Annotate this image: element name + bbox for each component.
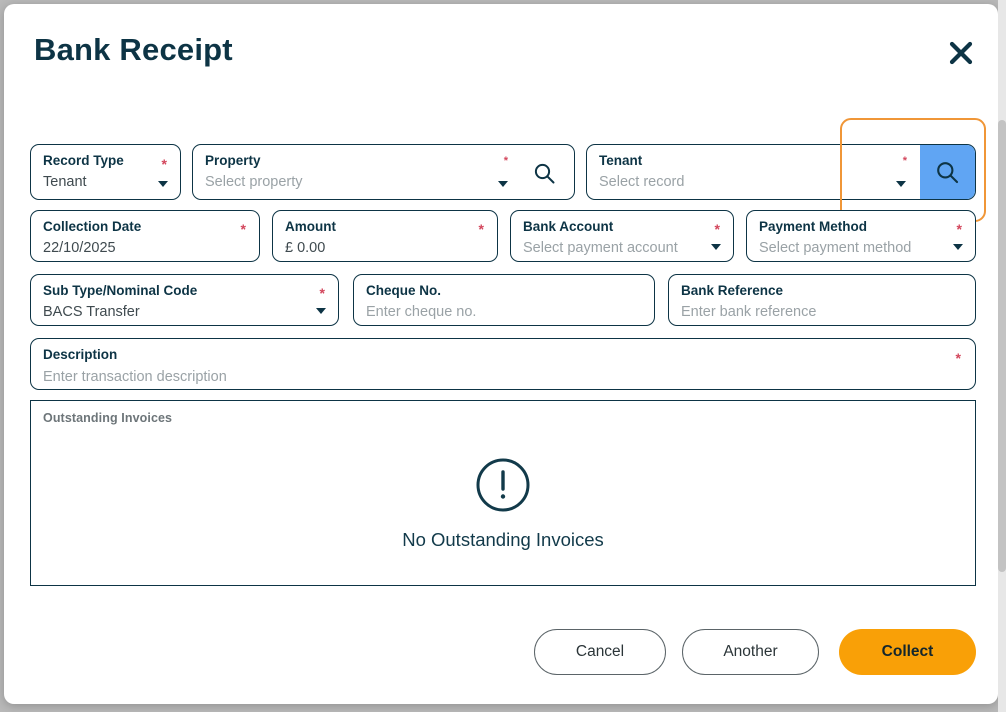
amount-field[interactable]: Amount * £ 0.00 [272,210,498,262]
chevron-down-icon[interactable] [953,244,963,250]
chevron-down-icon[interactable] [498,181,508,187]
cheque-no-field[interactable]: Cheque No. Enter cheque no. [353,274,655,326]
bank-account-field[interactable]: Bank Account * Select payment account [510,210,734,262]
amount-value: £ 0.00 [285,240,325,256]
payment-method-label: Payment Method [759,219,867,234]
another-button[interactable]: Another [682,629,819,675]
search-icon[interactable] [533,162,556,190]
empty-state: No Outstanding Invoices [31,457,975,551]
bank-receipt-dialog: Bank Receipt Record Type * Tenant Proper… [4,4,998,704]
sub-type-nominal-code-field[interactable]: Sub Type/Nominal Code * BACS Transfer [30,274,339,326]
collect-button[interactable]: Collect [839,629,976,675]
bank-reference-field[interactable]: Bank Reference Enter bank reference [668,274,976,326]
bank-reference-placeholder: Enter bank reference [681,304,816,320]
description-field[interactable]: Description * Enter transaction descript… [30,338,976,390]
collection-date-required-marker: * [241,222,246,236]
record-type-label: Record Type [43,153,124,168]
close-icon-glyph [948,40,974,66]
property-field[interactable]: Property * Select property [192,144,575,200]
bank-account-placeholder: Select payment account [523,240,678,256]
property-required-marker: * [504,156,508,167]
chevron-down-icon[interactable] [711,244,721,250]
bank-reference-label: Bank Reference [681,283,783,298]
tenant-required-marker: * [903,156,907,167]
search-icon [935,160,960,185]
property-placeholder: Select property [205,174,303,190]
collection-date-label: Collection Date [43,219,141,234]
page-title: Bank Receipt [34,32,233,68]
sub-type-value: BACS Transfer [43,304,140,320]
collection-date-field[interactable]: Collection Date * 22/10/2025 [30,210,260,262]
description-label: Description [43,347,117,362]
tenant-field[interactable]: Tenant * Select record [586,144,976,200]
description-required-marker: * [956,351,961,365]
sub-type-required-marker: * [320,286,325,300]
tenant-label: Tenant [599,153,642,168]
amount-label: Amount [285,219,336,234]
sub-type-label: Sub Type/Nominal Code [43,283,197,298]
bank-account-label: Bank Account [523,219,613,234]
chevron-down-icon[interactable] [158,181,168,187]
payment-method-field[interactable]: Payment Method * Select payment method [746,210,976,262]
cheque-no-label: Cheque No. [366,283,441,298]
description-placeholder: Enter transaction description [43,369,227,385]
close-icon[interactable] [939,31,983,75]
cheque-no-placeholder: Enter cheque no. [366,304,476,320]
payment-method-required-marker: * [957,222,962,236]
exclamation-circle-icon [475,457,531,513]
chevron-down-icon[interactable] [896,181,906,187]
record-type-required-marker: * [162,157,167,171]
tenant-search-button[interactable] [920,145,975,199]
scrollbar-track[interactable] [998,0,1006,712]
outstanding-invoices-title: Outstanding Invoices [43,411,172,425]
record-type-field[interactable]: Record Type * Tenant [30,144,181,200]
bank-account-required-marker: * [715,222,720,236]
property-label: Property [205,153,261,168]
empty-state-text: No Outstanding Invoices [402,529,604,551]
chevron-down-icon[interactable] [316,308,326,314]
tenant-placeholder: Select record [599,174,684,190]
search-icon-glyph [533,162,556,185]
collection-date-value: 22/10/2025 [43,240,116,256]
scrollbar-thumb[interactable] [998,120,1006,572]
amount-required-marker: * [479,222,484,236]
payment-method-placeholder: Select payment method [759,240,911,256]
cancel-button[interactable]: Cancel [534,629,666,675]
outstanding-invoices-panel: Outstanding Invoices No Outstanding Invo… [30,400,976,586]
record-type-value: Tenant [43,174,87,190]
